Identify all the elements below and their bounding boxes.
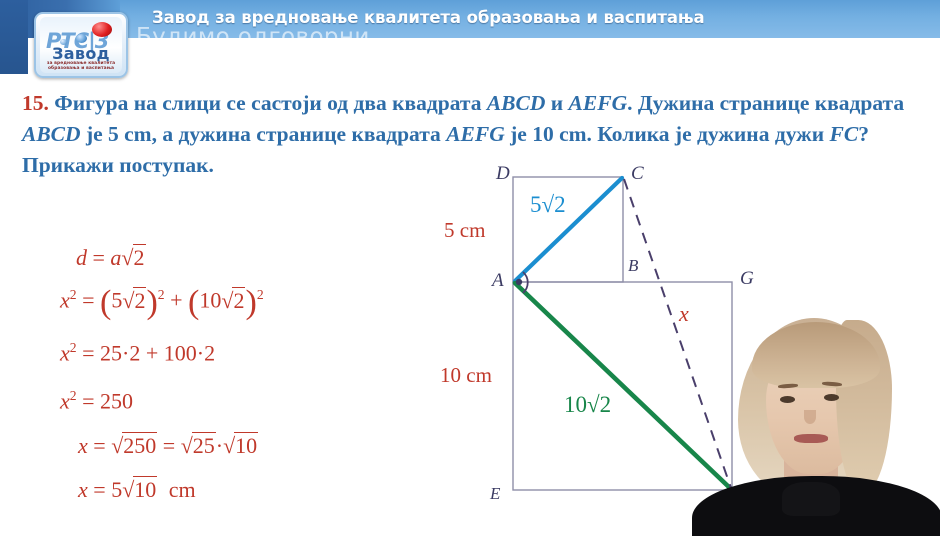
dimension-label-10cm: 10 cm — [440, 363, 492, 388]
vertex-label-g: G — [740, 268, 754, 290]
presenter-video-inset — [686, 306, 940, 536]
vertex-label-e: E — [490, 484, 500, 504]
vertex-label-a: A — [492, 270, 504, 292]
diagonal-label-5root2: 5√2 — [530, 192, 566, 218]
vertex-label-c: C — [631, 163, 644, 185]
presenter-turtleneck-collar — [782, 482, 840, 516]
vertex-label-d: D — [496, 163, 510, 185]
presenter-mouth — [794, 434, 828, 443]
presenter-eye-right — [824, 394, 839, 401]
presenter-nose — [804, 410, 816, 424]
vertex-a-dot — [516, 279, 522, 285]
diagonal-label-10root2: 10√2 — [564, 392, 611, 418]
vertex-label-b: B — [628, 256, 638, 276]
dimension-label-5cm: 5 cm — [444, 218, 485, 243]
broadcast-lesson-screen: Завод за вредновање квалитета образовања… — [0, 0, 940, 536]
presenter-eye-left — [780, 396, 795, 403]
